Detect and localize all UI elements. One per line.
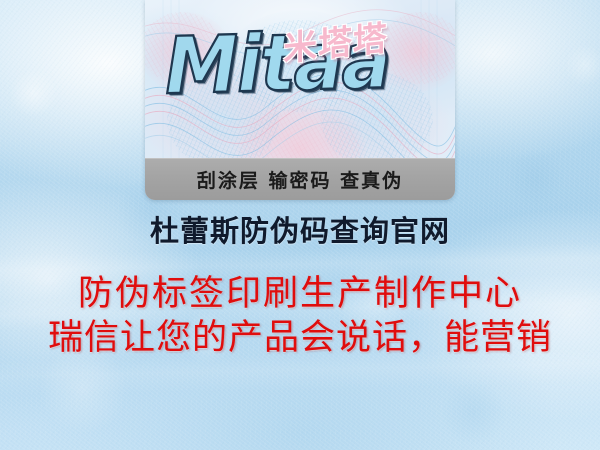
poster-canvas: Mitaa 米塔塔 刮涂层 输密码 查真伪 杜蕾斯防伪码查询官网 防伪标签印刷生… (0, 0, 600, 450)
scratch-band-label: 刮涂层 输密码 查真伪 (197, 166, 403, 193)
slogan-line-2: 瑞信让您的产品会说话，能营销 (0, 316, 600, 360)
page-title: 杜蕾斯防伪码查询官网 (0, 208, 600, 250)
scratch-off-band[interactable]: 刮涂层 输密码 查真伪 (145, 158, 455, 200)
card-logo: Mitaa 米塔塔 (145, 14, 455, 134)
slogan-line-1: 防伪标签印刷生产制作中心 (0, 272, 600, 316)
slogan-block: 防伪标签印刷生产制作中心 瑞信让您的产品会说话，能营销 (0, 272, 600, 360)
anti-counterfeit-scratch-card[interactable]: Mitaa 米塔塔 刮涂层 输密码 查真伪 (145, 0, 455, 200)
